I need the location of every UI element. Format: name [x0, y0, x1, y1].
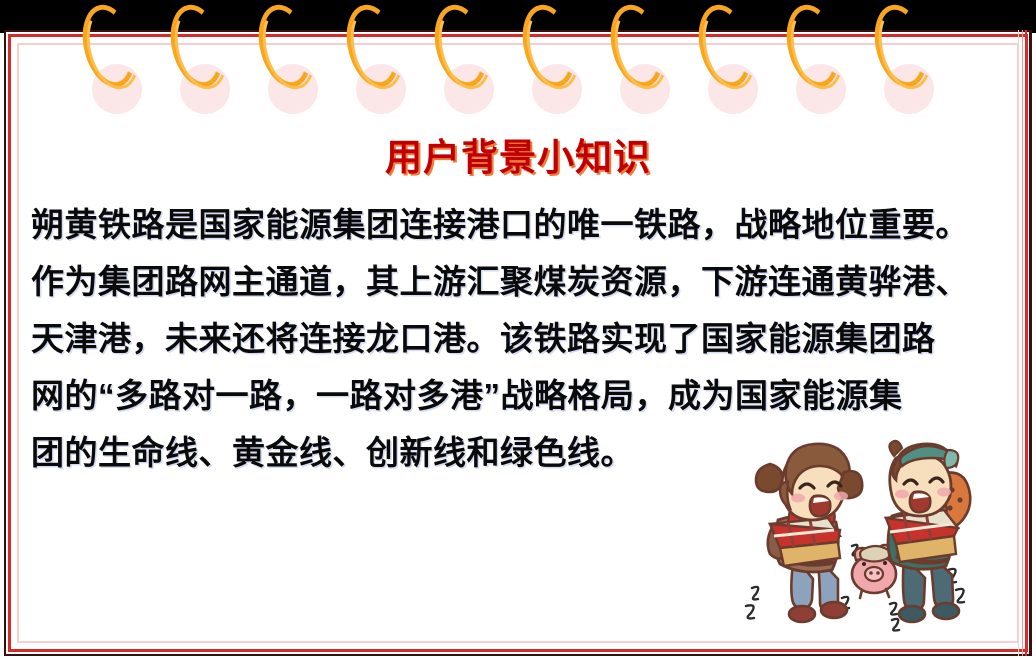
top-black-band [0, 0, 1036, 33]
body-line: 作为集团路网主通道，其上游汇聚煤炭资源，下游连通黄骅港、 [31, 253, 1006, 310]
children-illustration [744, 438, 1004, 634]
body-line: 天津港，未来还将连接龙口港。该铁路实现了国家能源集团路 [31, 310, 1006, 367]
notepad-slide: 用户背景小知识 朔黄铁路是国家能源集团连接港口的唯一铁路，战略地位重要。 作为集… [0, 0, 1036, 660]
page-title: 用户背景小知识 [0, 127, 1036, 181]
child-left [756, 444, 862, 622]
body-line: 朔黄铁路是国家能源集团连接港口的唯一铁路，战略地位重要。 [31, 196, 1006, 253]
child-right [886, 441, 970, 622]
body-line: 网的“多路对一路，一路对多港”战略格局，成为国家能源集 [31, 367, 1006, 424]
right-edge-hairlines [1014, 30, 1036, 656]
